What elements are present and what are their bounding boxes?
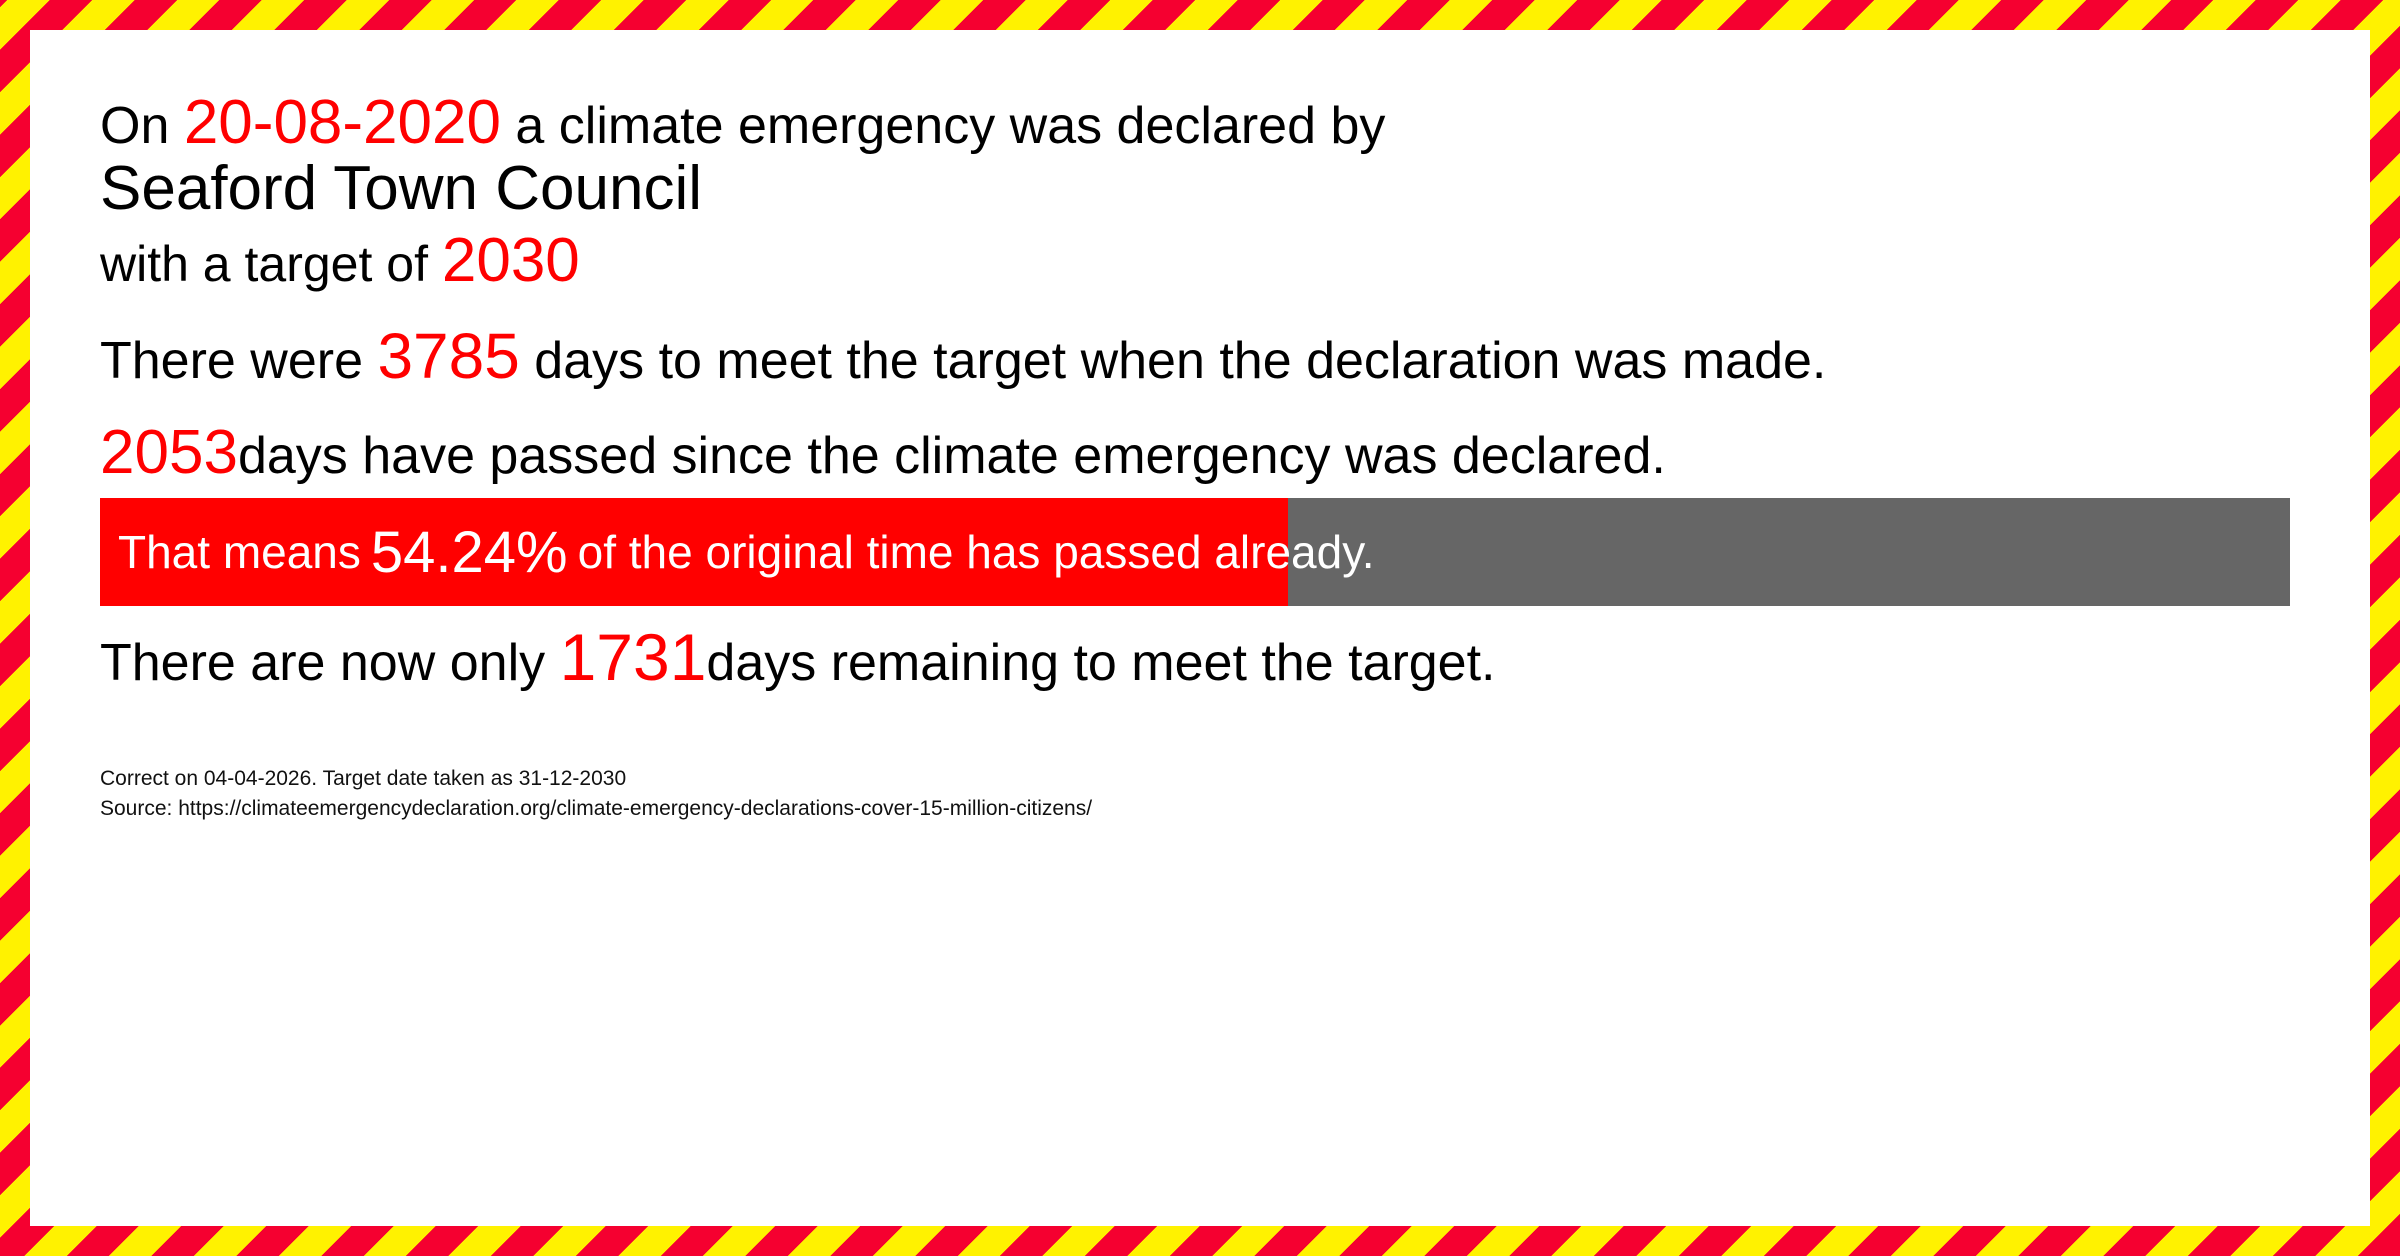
declaration-suffix: a climate emergency was declared by [501,97,1385,155]
declaration-prefix: On [100,97,184,155]
poster-content: On 20-08-2020 a climate emergency was de… [100,30,2330,1226]
declaration-date: 20-08-2020 [184,88,501,157]
footnotes: Correct on 04-04-2026. Target date taken… [100,764,1092,825]
poster-card: On 20-08-2020 a climate emergency was de… [30,30,2370,1226]
progress-bar-track: That means54.24%of the original time has… [100,498,2290,606]
original-days-prefix: There were [100,332,377,390]
progress-bar-label: That means54.24%of the original time has… [118,498,1375,606]
progress-percent: 54.24% [361,519,578,586]
progress-label-suffix: of the original time has passed already. [578,525,1375,579]
remaining-days-prefix: There are now only [100,634,560,692]
target-line: with a target of 2030 [100,230,580,292]
original-days-value: 3785 [377,320,519,392]
progress-label-prefix: That means [118,525,361,579]
target-prefix: with a target of [100,236,442,292]
elapsed-days-suffix: days have passed since the climate emerg… [238,427,1666,485]
remaining-days-line: There are now only 1731days remaining to… [100,624,1496,690]
poster-frame: On 20-08-2020 a climate emergency was de… [0,0,2400,1256]
original-days-suffix: days to meet the target when the declara… [520,332,1827,390]
remaining-days-value: 1731 [560,620,707,694]
declaration-headline: On 20-08-2020 a climate emergency was de… [100,92,1385,154]
council-name: Seaford Town Council [100,158,702,220]
remaining-days-suffix: days remaining to meet the target. [706,634,1495,692]
footnote-correct-on: Correct on 04-04-2026. Target date taken… [100,764,1092,794]
elapsed-days-line: 2053days have passed since the climate e… [100,422,1666,484]
target-year: 2030 [442,226,580,295]
original-days-line: There were 3785 days to meet the target … [100,324,1826,388]
elapsed-days-value: 2053 [100,418,238,487]
footnote-source: Source: https://climateemergencydeclarat… [100,794,1092,824]
